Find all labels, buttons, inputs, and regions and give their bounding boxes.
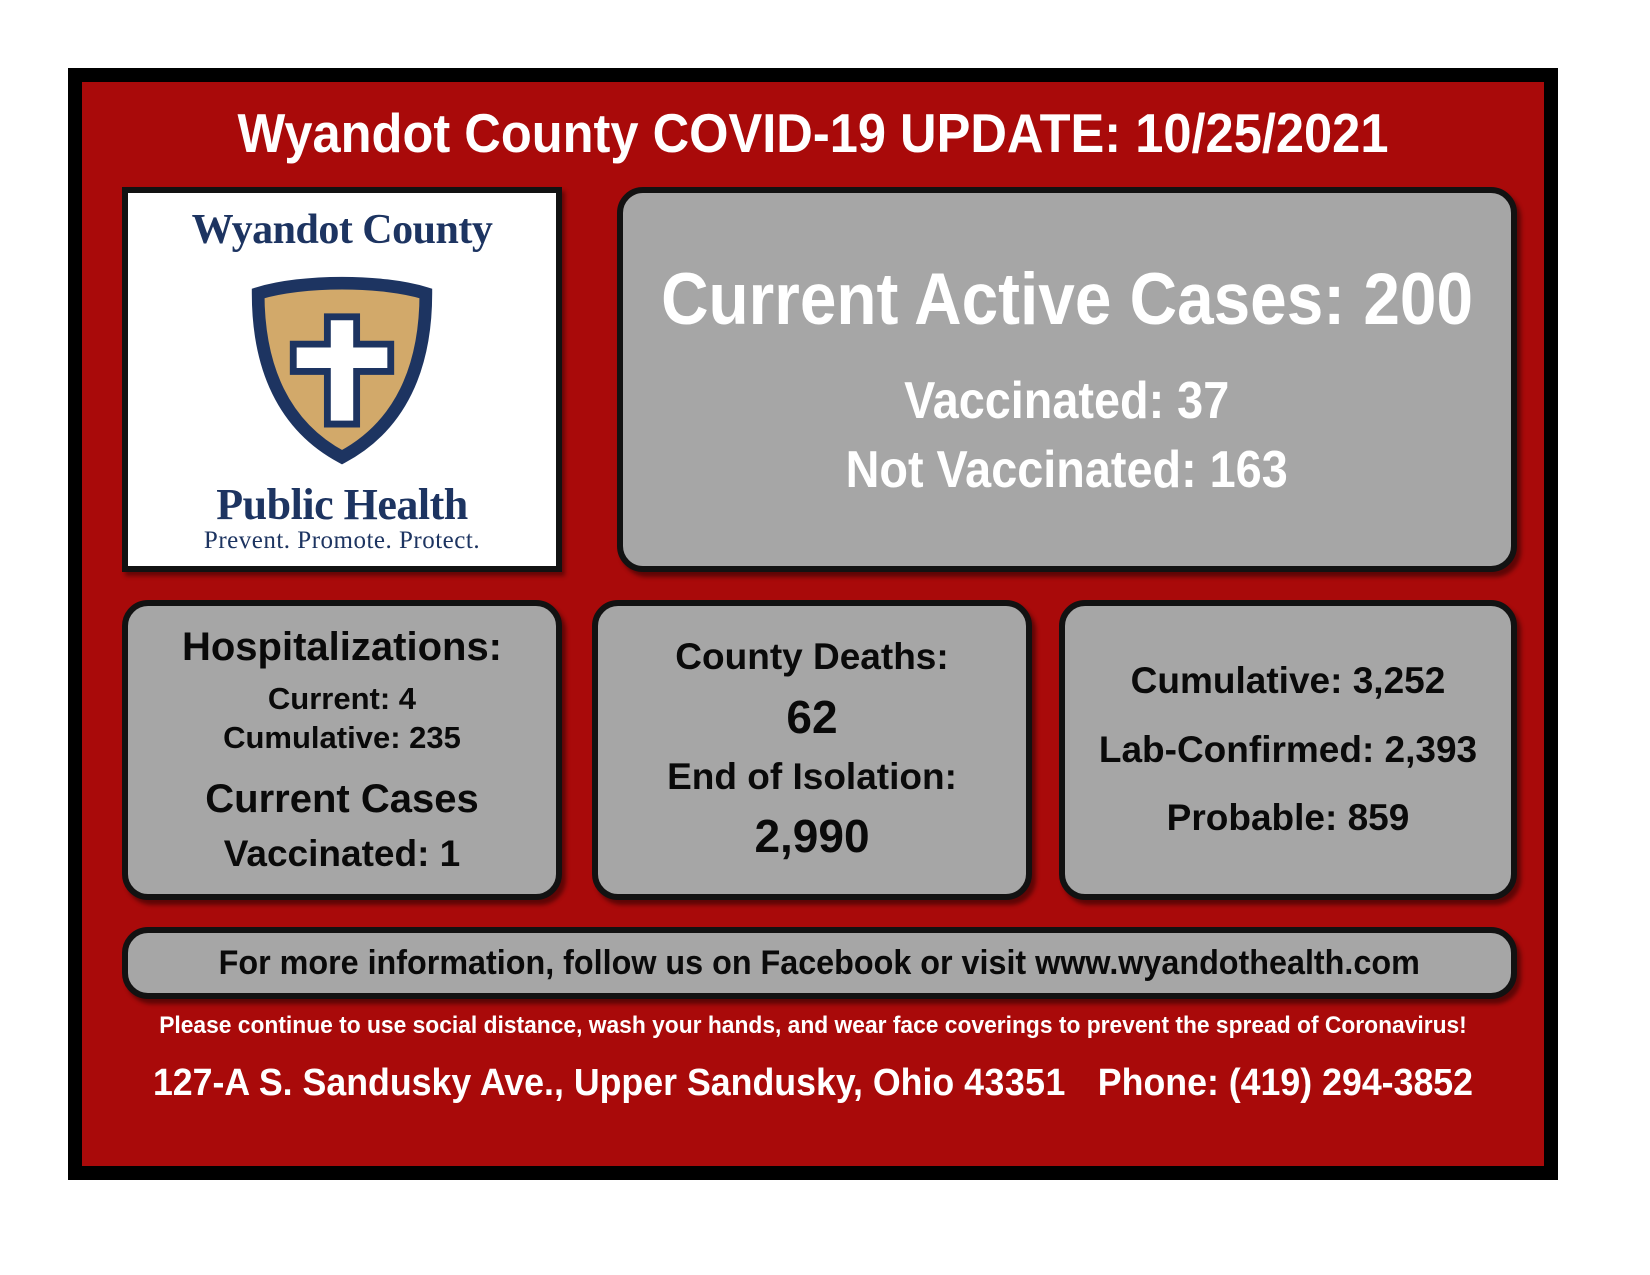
county-deaths-heading: County Deaths: [675, 635, 948, 679]
cumulative-probable: Probable: 859 [1167, 796, 1410, 840]
footer-notice: Please continue to use social distance, … [119, 1012, 1508, 1041]
hospitalizations-current: Current: 4 [268, 680, 416, 719]
active-cases-card: Current Active Cases: 200 Vaccinated: 37… [617, 187, 1517, 572]
active-cases-vaccinated: Vaccinated: 37 [904, 374, 1229, 429]
logo-top-text: Wyandot County [192, 209, 493, 251]
logo-bottom-group: Public Health Prevent. Promote. Protect. [204, 483, 480, 556]
footer-address: 127-A S. Sandusky Ave., Upper Sandusky, … [153, 1062, 964, 1104]
current-cases-label: Current Cases [205, 776, 478, 822]
footer-phone: Phone: (419) 294-3852 [1098, 1062, 1473, 1104]
hospitalizations-card: Hospitalizations: Current: 4 Cumulative:… [122, 600, 562, 900]
agency-logo: Wyandot County Public Health Prevent. Pr… [122, 187, 562, 572]
hospitalizations-heading: Hospitalizations: [182, 624, 502, 670]
more-information-bar: For more information, follow us on Faceb… [122, 927, 1517, 999]
current-cases-vaccinated: Vaccinated: 1 [224, 832, 461, 876]
stats-row: Hospitalizations: Current: 4 Cumulative:… [122, 600, 1517, 900]
shield-with-cross-icon [242, 270, 442, 465]
county-deaths-card: County Deaths: 62 End of Isolation: 2,99… [592, 600, 1032, 900]
end-of-isolation-value: 2,990 [754, 809, 869, 864]
cumulative-lab-confirmed: Lab-Confirmed: 2,393 [1099, 728, 1477, 772]
more-information-text: For more information, follow us on Faceb… [219, 944, 1420, 983]
footer: Please continue to use social distance, … [82, 1012, 1544, 1106]
logo-bottom-text: Public Health [216, 483, 467, 527]
hospitalizations-cumulative: Cumulative: 235 [223, 719, 461, 758]
page-title: Wyandot County COVID-19 UPDATE: 10/25/20… [140, 82, 1485, 161]
county-deaths-value: 62 [786, 690, 837, 745]
footer-address-line: 127-A S. Sandusky Ave., Upper Sandusky, … [126, 1061, 1500, 1107]
cumulative-cases-card: Cumulative: 3,252 Lab-Confirmed: 2,393 P… [1059, 600, 1517, 900]
cumulative-total: Cumulative: 3,252 [1131, 659, 1446, 703]
active-cases-not-vaccinated: Not Vaccinated: 163 [846, 443, 1288, 498]
active-cases-headline: Current Active Cases: 200 [661, 262, 1473, 339]
logo-tagline: Prevent. Promote. Protect. [204, 527, 480, 556]
top-row: Wyandot County Public Health Prevent. Pr… [122, 187, 1517, 572]
poster-frame: Wyandot County COVID-19 UPDATE: 10/25/20… [68, 68, 1558, 1180]
end-of-isolation-label: End of Isolation: [667, 755, 957, 799]
footer-zip: 43351 [964, 1062, 1066, 1104]
